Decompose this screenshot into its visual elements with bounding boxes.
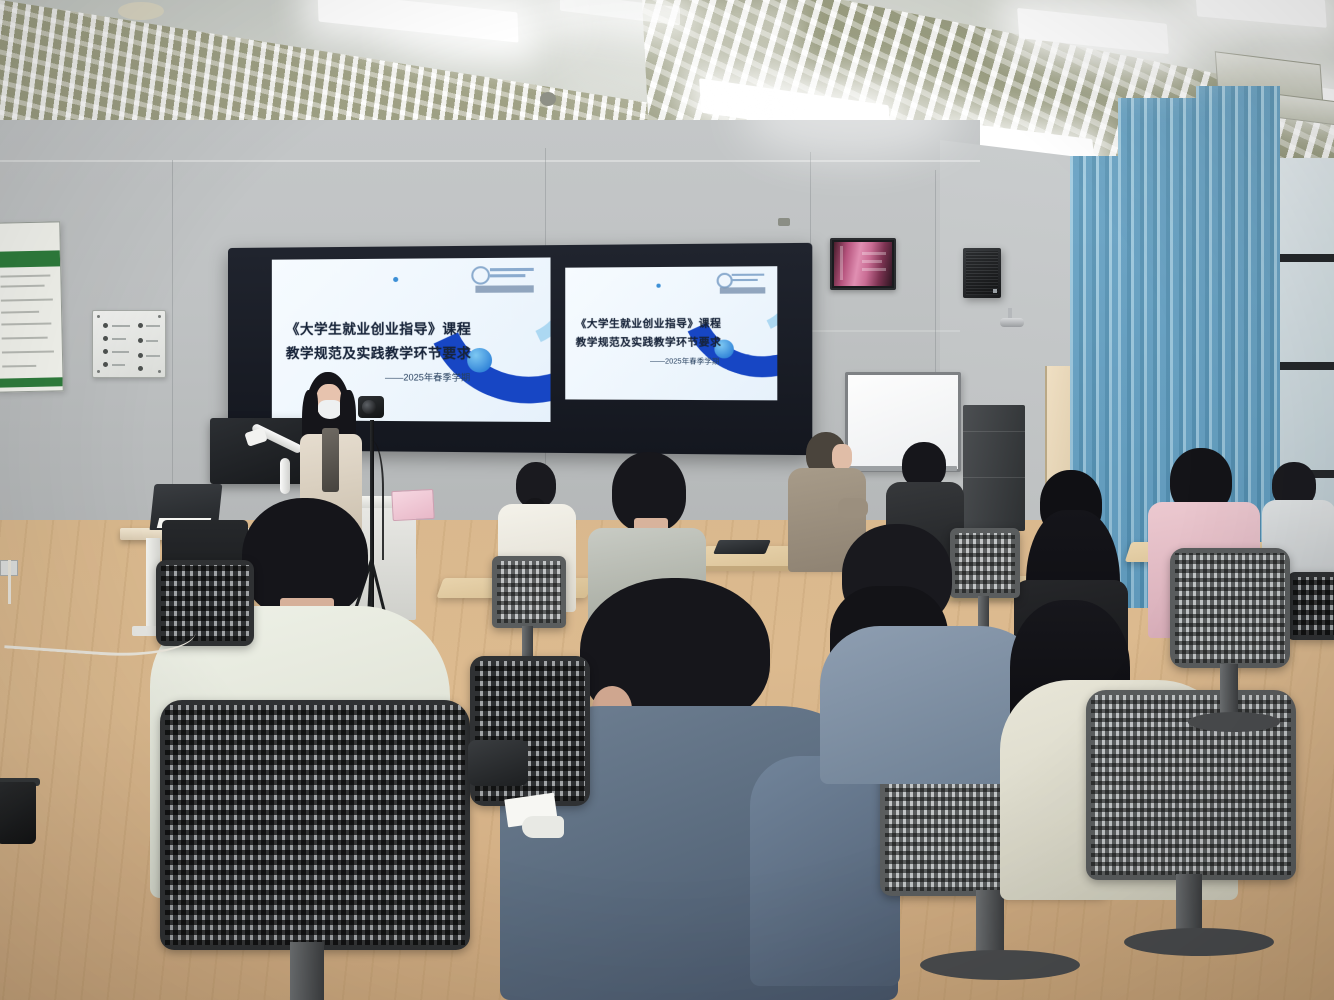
attendee-arm — [838, 498, 868, 518]
notice-poster — [0, 221, 64, 392]
panel-button[interactable] — [138, 338, 143, 343]
poster-text-line — [1, 298, 53, 301]
panel-button[interactable] — [138, 353, 143, 358]
slide-title-line2: 教学规范及实践教学环节要求 — [286, 342, 471, 362]
classroom-photo: 《大学生就业创业指导》课程 教学规范及实践教学环节要求 ——2025年春季学期 … — [0, 0, 1334, 1000]
chair-back[interactable] — [1170, 548, 1290, 668]
panel-label — [112, 364, 125, 366]
wall-speaker — [963, 248, 1001, 298]
slide-dot-small — [393, 277, 398, 282]
chair-back[interactable] — [160, 700, 470, 950]
chair-back[interactable] — [1288, 572, 1334, 640]
monitor-stripe — [862, 268, 886, 271]
panel-label — [112, 325, 130, 327]
panel-button[interactable] — [138, 366, 143, 371]
slide-dot-small — [656, 284, 660, 288]
panel-button[interactable] — [103, 336, 108, 341]
slide-subtitle: ——2025年春季学期 — [385, 370, 470, 383]
poster-text-line — [2, 365, 36, 368]
panel-button[interactable] — [103, 323, 108, 328]
slide-title-line2: 教学规范及实践教学环节要求 — [576, 333, 722, 349]
poster-text-line — [1, 311, 39, 314]
chair-post — [290, 942, 324, 1000]
cabinet-seam — [963, 431, 1025, 432]
bag-on-floor — [468, 740, 528, 786]
panel-screw — [158, 315, 161, 318]
university-logo — [471, 266, 536, 293]
panel-label — [146, 340, 158, 342]
poster-text-line — [1, 285, 45, 288]
chair-base — [1124, 928, 1274, 956]
poster-text-line — [1, 323, 51, 326]
monitor-stripe — [862, 252, 886, 255]
camera-lens-icon — [362, 400, 376, 414]
poster-text-line — [0, 275, 50, 278]
panel-label — [112, 338, 126, 340]
panel-label — [146, 325, 160, 327]
poster-text-line — [2, 350, 54, 353]
panel-button[interactable] — [138, 323, 143, 328]
poster-text-line — [2, 337, 48, 340]
panel-label — [112, 351, 129, 353]
panel-label — [146, 355, 160, 357]
panel-screw — [158, 370, 161, 373]
monitor-stripe — [840, 246, 843, 280]
panel-screw — [97, 370, 100, 373]
poster-footer-band — [0, 377, 63, 387]
slide-title-line1: 《大学生就业创业指导》课程 — [576, 315, 722, 331]
speaker-led — [993, 289, 997, 293]
ceiling-speaker-dome — [540, 92, 556, 106]
poster-header-band — [0, 250, 60, 267]
ceiling-light-5 — [1195, 0, 1327, 28]
ceiling-glare — [560, 0, 800, 140]
ceiling-sensor — [118, 2, 164, 20]
shoe — [522, 816, 564, 838]
security-camera-icon — [1000, 318, 1024, 327]
presenter-scarf — [322, 428, 339, 492]
ceiling-fixture — [778, 218, 790, 226]
chair-base — [1188, 712, 1280, 732]
attendee-arm — [750, 756, 900, 986]
monitor-stripe — [862, 260, 882, 263]
right-display[interactable]: 《大学生就业创业指导》课程 教学规范及实践教学环节要求 ——2025年春季学期 — [565, 266, 777, 400]
chair-base — [920, 950, 1080, 980]
panel-button[interactable] — [103, 362, 108, 367]
trash-bin — [0, 782, 36, 844]
laptop[interactable] — [713, 540, 771, 554]
wall-seam-2 — [172, 160, 173, 540]
university-logo — [717, 273, 767, 294]
wall-monitor[interactable] — [830, 238, 896, 290]
lighting-control-panel[interactable] — [92, 310, 166, 378]
wall-seam-1 — [0, 160, 980, 162]
slide-title-line1: 《大学生就业创业指导》课程 — [286, 317, 471, 338]
panel-screw — [97, 315, 100, 318]
attendee-face — [832, 444, 852, 470]
slide-subtitle: ——2025年春季学期 — [650, 356, 719, 366]
face-mask — [318, 400, 342, 419]
panel-button[interactable] — [103, 349, 108, 354]
ceiling-light-1 — [318, 0, 519, 43]
